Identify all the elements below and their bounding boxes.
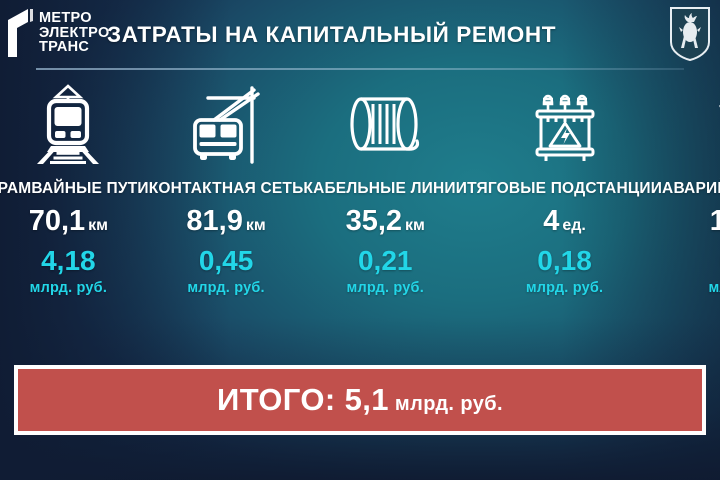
metric-label: КОНТАКТНАЯ СЕТЬ [149,180,304,198]
metric-quantity-value: 4 [543,205,559,237]
coat-of-arms-svg [668,6,712,62]
logo-mark-svg [6,8,34,58]
logo-line-2: ЭЛЕКТРО [39,26,110,41]
total-text: ИТОГО: 5,1млрд. руб. [217,382,503,418]
metric-cost: 0,21 [358,247,413,275]
metric-label: КАБЕЛЬНЫЕ ЛИНИИ [303,180,467,198]
metric-label: ТРАМВАЙНЫЕ ПУТИ [0,180,149,198]
company-logo: МЕТРО ЭЛЕКТРО ТРАНС [6,8,110,58]
metric-quantity-unit: км [405,217,425,234]
utility-pole-icon-svg [707,84,720,164]
tram-on-tracks-icon [29,82,107,166]
header-divider [36,68,684,70]
substation-icon-svg [527,84,603,164]
city-coat-of-arms-deer [668,6,712,62]
metric-quantity: 81,9км [186,207,265,236]
total-banner: ИТОГО: 5,1млрд. руб. [14,365,706,435]
metric-column-traction-substations: ТЯГОВЫЕ ПОДСТАНЦИИ 4ед. 0,18 млрд. руб. [467,82,662,354]
metric-quantity-value: 143 [710,205,720,237]
metric-cost-unit: млрд. руб. [526,280,603,296]
metric-label: ТЯГОВЫЕ ПОДСТАНЦИИ [467,180,662,198]
contact-network-icon-svg [184,84,268,164]
metric-column-cable-lines: КАБЕЛЬНЫЕ ЛИНИИ 35,2км 0,21 млрд. руб. [303,82,467,354]
metric-cost: 4,18 [41,247,96,275]
metric-quantity-unit: км [88,217,108,234]
metric-quantity: 35,2км [346,207,425,236]
capital-repair-costs-infographic: МЕТРО ЭЛЕКТРО ТРАНС ЗАТРАТЫ НА КАПИТАЛЬН… [0,0,720,480]
logo-line-1: МЕТРО [39,11,110,26]
metric-quantity-value: 70,1 [29,205,85,237]
metric-quantity-unit: км [246,217,266,234]
metric-quantity: 143ед. [710,207,720,236]
logo-line-3: ТРАНС [39,40,110,55]
metric-label: АВАРИЙНЫЕ ОПОРЫ [662,180,720,198]
header: МЕТРО ЭЛЕКТРО ТРАНС ЗАТРАТЫ НА КАПИТАЛЬН… [0,0,720,71]
overhead-contact-wire-tram-icon [184,82,268,166]
cable-coil-icon [345,82,425,166]
total-banner-fill: ИТОГО: 5,1млрд. руб. [18,369,702,431]
logo-wordmark: МЕТРО ЭЛЕКТРО ТРАНС [39,11,110,55]
metro-elektrotrans-logo-mark [6,8,34,58]
metric-column-tram-tracks: ТРАМВАЙНЫЕ ПУТИ 70,1км 4,18 млрд. руб. [0,82,149,354]
metric-quantity-unit: ед. [562,217,586,234]
metric-cost-unit: млрд. руб. [708,280,720,296]
page-title: ЗАТРАТЫ НА КАПИТАЛЬНЫЙ РЕМОНТ [107,22,556,48]
traction-substation-transformer-icon [527,82,603,166]
metric-column-contact-network: КОНТАКТНАЯ СЕТЬ 81,9км 0,45 млрд. руб. [149,82,304,354]
metric-quantity: 70,1км [29,207,108,236]
metric-quantity: 4ед. [543,207,586,236]
utility-pole-icon [707,82,720,166]
metric-cost: 0,45 [199,247,254,275]
metric-column-emergency-poles: АВАРИЙНЫЕ ОПОРЫ 143ед. 0,03 млрд. руб. [662,82,720,354]
tram-icon-svg [29,84,107,164]
metric-quantity-value: 35,2 [346,205,402,237]
total-unit: млрд. руб. [395,393,503,415]
metric-cost-unit: млрд. руб. [187,280,264,296]
metric-cost: 0,18 [537,247,592,275]
metrics-row: ТРАМВАЙНЫЕ ПУТИ 70,1км 4,18 млрд. руб. [0,82,720,354]
total-label: ИТОГО: 5,1 [217,382,389,417]
metric-cost-unit: млрд. руб. [347,280,424,296]
cable-coil-icon-svg [345,88,425,160]
metric-cost-unit: млрд. руб. [30,280,107,296]
metric-quantity-value: 81,9 [186,205,242,237]
